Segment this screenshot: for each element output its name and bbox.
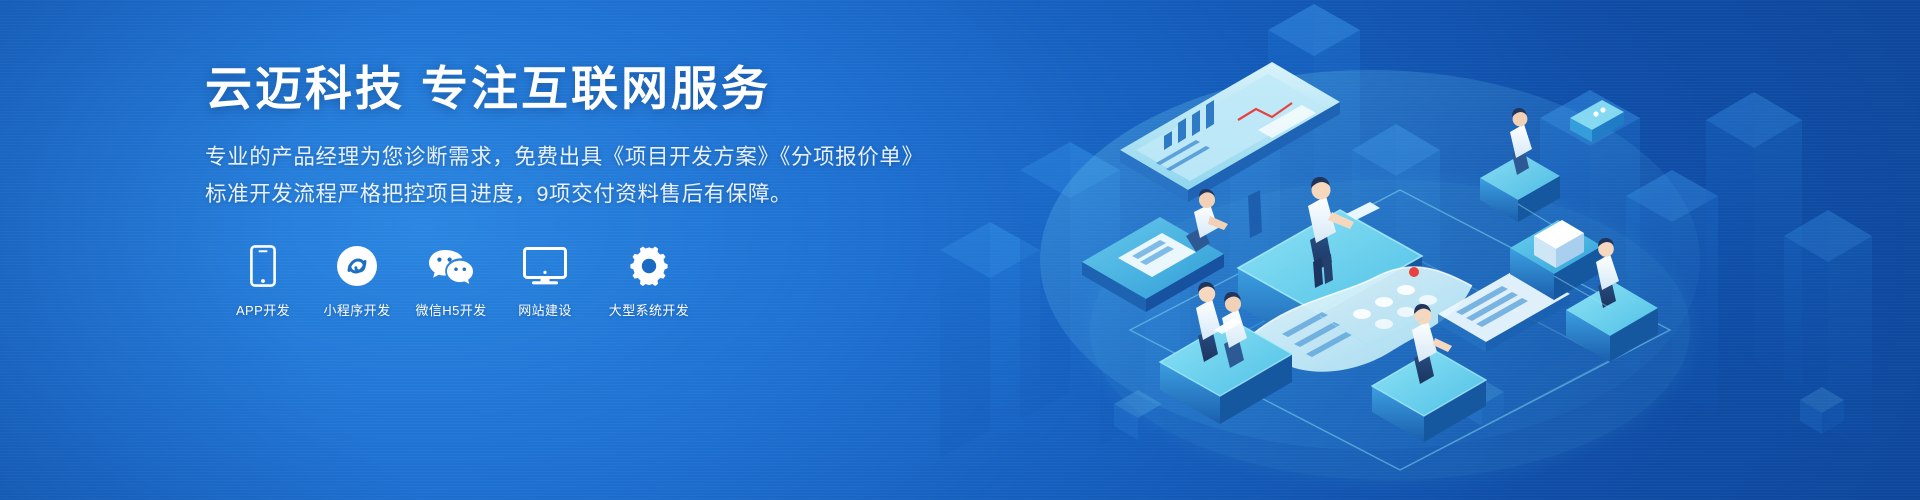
- floating-chat-bubble: [1570, 100, 1624, 142]
- mobile-phone-icon: [250, 243, 276, 287]
- service-item-miniprogram[interactable]: 小程序开发: [321, 243, 393, 319]
- gear-icon: [628, 243, 670, 287]
- service-item-system[interactable]: 大型系统开发: [603, 243, 695, 319]
- service-label: APP开发: [236, 300, 290, 319]
- service-list: APP开发 小程序开发: [227, 243, 965, 319]
- banner-subtitle: 专业的产品经理为您诊断需求，免费出具《项目开发方案》《分项报价单》 标准开发流程…: [205, 139, 965, 213]
- mini-program-icon: [336, 243, 378, 287]
- service-label: 微信H5开发: [415, 300, 486, 319]
- service-label: 小程序开发: [323, 300, 390, 319]
- page-title: 云迈科技 专注互联网服务: [205, 60, 965, 119]
- service-item-wechat[interactable]: 微信H5开发: [415, 243, 487, 319]
- service-label: 网站建设: [518, 300, 572, 319]
- service-item-app[interactable]: APP开发: [227, 243, 299, 319]
- monitor-icon: [523, 243, 567, 287]
- service-item-website[interactable]: 网站建设: [509, 243, 581, 319]
- subtitle-line-2: 标准开发流程严格把控项目进度，9项交付资料售后有保障。: [205, 176, 965, 213]
- hero-banner: 云迈科技 专注互联网服务 专业的产品经理为您诊断需求，免费出具《项目开发方案》《…: [0, 0, 1920, 500]
- isometric-team-illustration: [1010, 0, 1770, 500]
- wechat-icon: [427, 243, 475, 287]
- subtitle-line-1: 专业的产品经理为您诊断需求，免费出具《项目开发方案》《分项报价单》: [205, 139, 965, 176]
- service-label: 大型系统开发: [609, 300, 689, 319]
- banner-content: 云迈科技 专注互联网服务 专业的产品经理为您诊断需求，免费出具《项目开发方案》《…: [205, 60, 965, 319]
